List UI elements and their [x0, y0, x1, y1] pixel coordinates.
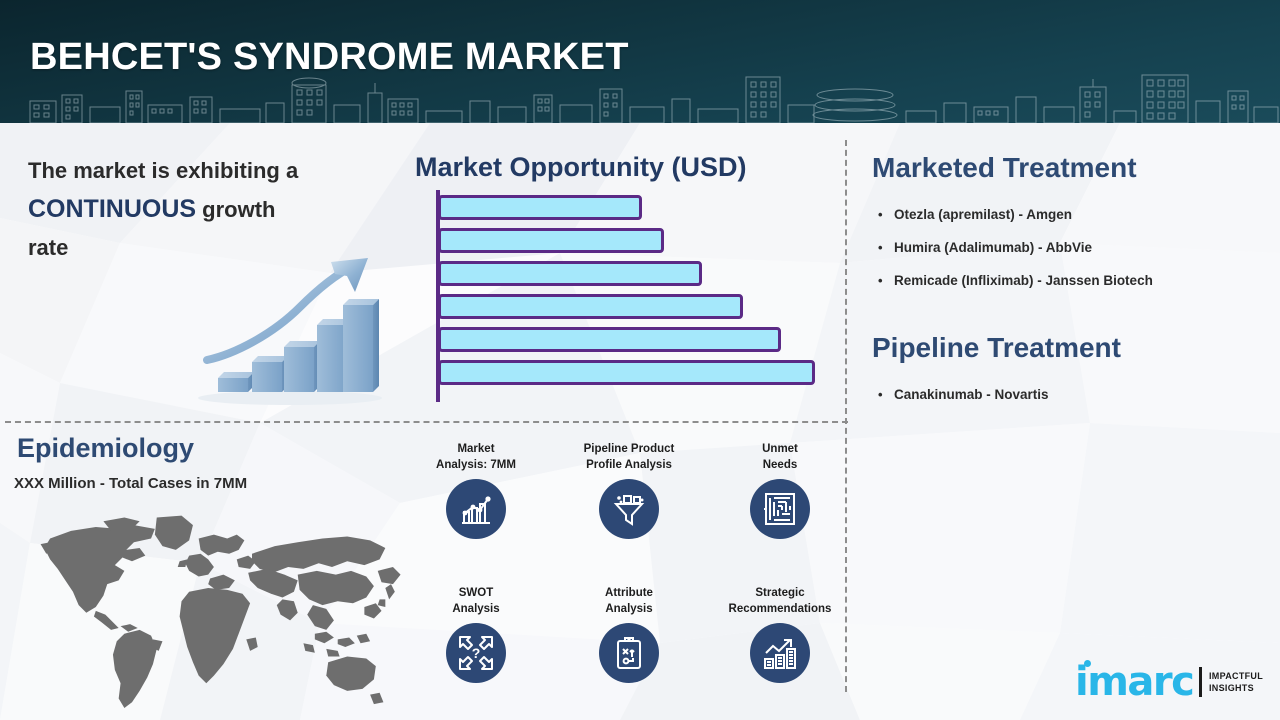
logo-tagline: IMPACTFUL INSIGHTS — [1209, 670, 1263, 694]
intro-line-1: The market is exhibiting a — [28, 158, 298, 183]
list-item-label: Remicade (Infliximab) - Janssen Biotech — [894, 273, 1153, 288]
funnel-icon[interactable] — [599, 479, 659, 539]
intro-highlight: CONTINUOUS — [28, 195, 196, 223]
bullet-icon: • — [878, 264, 883, 297]
bullet-icon: • — [878, 378, 883, 411]
chart-bar-row — [438, 327, 781, 352]
growth-bar-chart-arrow-icon — [185, 252, 400, 407]
list-item-label: Humira (Adalimumab) - AbbVie — [894, 240, 1092, 255]
list-item: •Otezla (apremilast) - Amgen — [876, 198, 1266, 231]
analysis-item-pipeline-product-profile[interactable]: Pipeline Product Profile Analysis — [549, 441, 709, 539]
list-item: •Remicade (Infliximab) - Janssen Biotech — [876, 264, 1266, 297]
market-opportunity-chart — [436, 190, 836, 402]
logo-dot-icon — [1084, 660, 1091, 667]
analysis-label-line1: SWOT — [396, 585, 556, 601]
logo-tagline-line2: INSIGHTS — [1209, 682, 1263, 694]
bullet-icon: • — [878, 231, 883, 264]
list-item-label: Canakinumab - Novartis — [894, 387, 1049, 402]
chart-bar — [438, 195, 642, 220]
marketed-treatment-heading: Marketed Treatment — [872, 152, 1137, 184]
svg-text:?: ? — [472, 645, 481, 661]
chart-title: Market Opportunity (USD) — [415, 152, 747, 183]
analysis-label-line2: Needs — [700, 457, 860, 473]
chart-bar — [438, 360, 815, 385]
bar-line-chart-icon[interactable] — [446, 479, 506, 539]
analysis-label-line2: Analysis — [549, 601, 709, 617]
logo-tagline-line1: IMPACTFUL — [1209, 670, 1263, 682]
marketed-treatment-list: •Otezla (apremilast) - Amgen •Humira (Ad… — [876, 198, 1266, 297]
intro-line-2-rest: growth — [196, 197, 275, 222]
analysis-item-attribute-analysis[interactable]: Attribute Analysis — [549, 585, 709, 683]
chart-bar — [438, 261, 702, 286]
chart-bar-row — [438, 294, 743, 319]
analysis-item-swot-analysis[interactable]: SWOT Analysis ? — [396, 585, 556, 683]
analysis-label-line1: Strategic — [700, 585, 860, 601]
growth-arrow-bars-icon[interactable] — [750, 623, 810, 683]
analysis-item-market-analysis[interactable]: Market Analysis: 7MM — [396, 441, 556, 539]
pipeline-treatment-list: •Canakinumab - Novartis — [876, 378, 1266, 411]
chart-bar-row — [438, 195, 642, 220]
analysis-label-line1: Unmet — [700, 441, 860, 457]
imarc-logo: imarc IMPACTFUL INSIGHTS — [1075, 660, 1265, 706]
logo-wordmark: imarc — [1075, 662, 1193, 702]
world-map-icon — [12, 500, 412, 715]
horizontal-divider — [5, 421, 848, 423]
page-header: BEHCET'S SYNDROME MARKET — [0, 0, 1280, 123]
analysis-label-line1: Market — [396, 441, 556, 457]
chart-bar-row — [438, 228, 664, 253]
list-item: •Humira (Adalimumab) - AbbVie — [876, 231, 1266, 264]
chart-bar — [438, 294, 743, 319]
list-item: •Canakinumab - Novartis — [876, 378, 1266, 411]
pipeline-treatment-heading: Pipeline Treatment — [872, 332, 1121, 364]
bullet-icon: • — [878, 198, 883, 231]
chart-bar — [438, 228, 664, 253]
analysis-label-line1: Attribute — [549, 585, 709, 601]
swot-arrows-question-icon[interactable]: ? — [446, 623, 506, 683]
analysis-label-line1: Pipeline Product — [549, 441, 709, 457]
analysis-label-line2: Profile Analysis — [549, 457, 709, 473]
analysis-item-unmet-needs[interactable]: Unmet Needs — [700, 441, 860, 539]
analysis-label-line2: Analysis — [396, 601, 556, 617]
intro-statement: The market is exhibiting a CONTINUOUS gr… — [28, 152, 378, 267]
chart-bar-row — [438, 360, 815, 385]
intro-line-3: rate — [28, 235, 68, 260]
chart-bar-row — [438, 261, 702, 286]
maze-icon[interactable] — [750, 479, 810, 539]
logo-divider — [1199, 667, 1202, 697]
list-item-label: Otezla (apremilast) - Amgen — [894, 207, 1072, 222]
page-title: BEHCET'S SYNDROME MARKET — [30, 36, 629, 79]
analysis-label-line2: Analysis: 7MM — [396, 457, 556, 473]
epidemiology-heading: Epidemiology — [17, 433, 194, 464]
analysis-item-strategic-recommendations[interactable]: Strategic Recommendations — [700, 585, 860, 683]
clipboard-strategy-icon[interactable] — [599, 623, 659, 683]
chart-bar — [438, 327, 781, 352]
analysis-label-line2: Recommendations — [700, 601, 860, 617]
epidemiology-subtitle: XXX Million - Total Cases in 7MM — [14, 475, 247, 492]
